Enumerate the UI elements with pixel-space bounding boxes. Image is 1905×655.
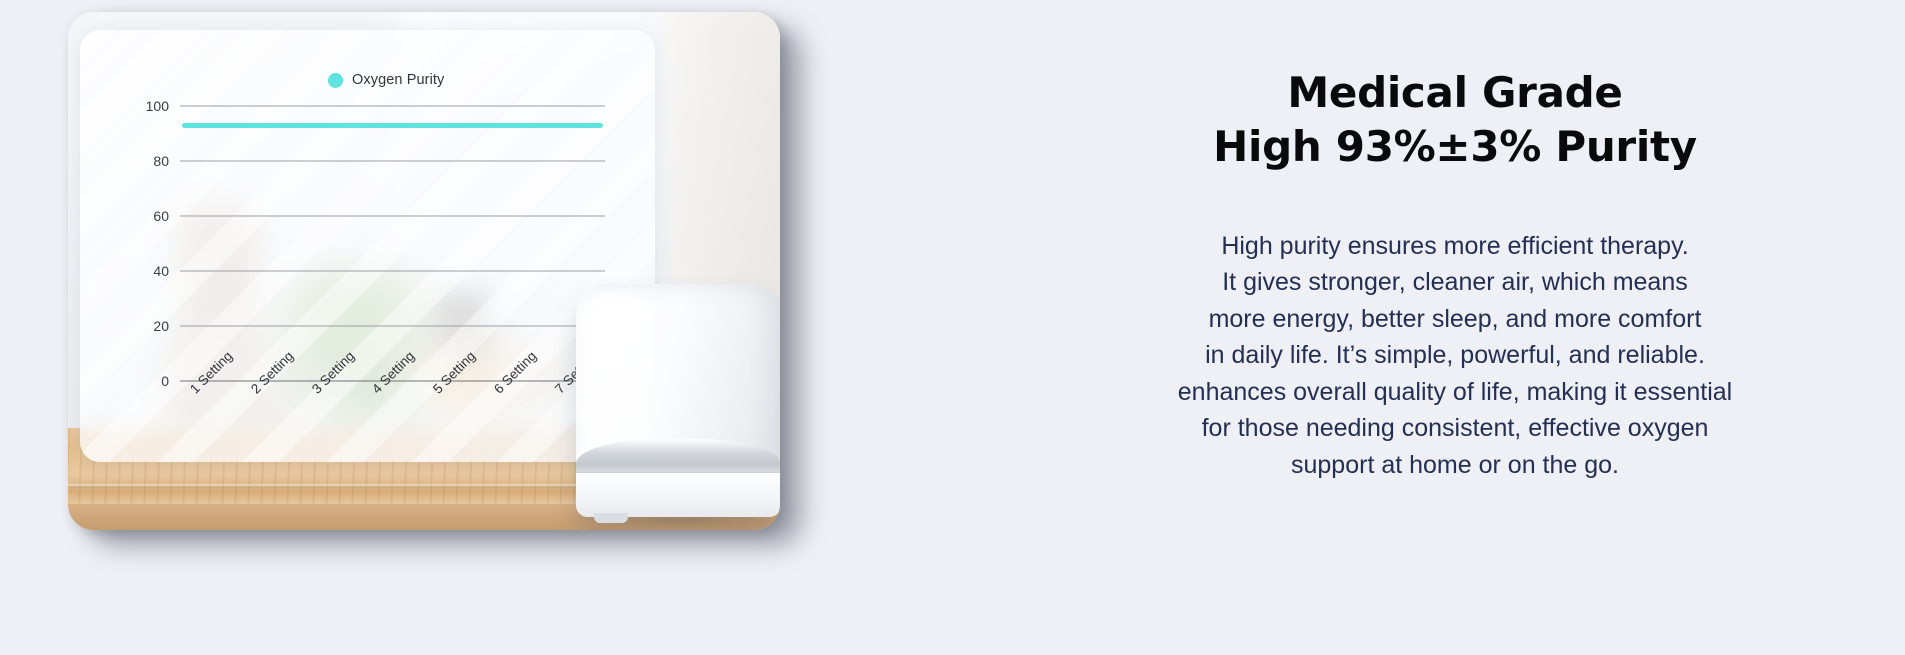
chart-plot-area: 020406080100 [180, 106, 605, 381]
chart-gridline [180, 326, 605, 327]
headline-line-1: Medical Grade [1287, 68, 1622, 117]
page-root: Oxygen Purity 020406080100 1 Setting2 Se… [0, 0, 1905, 655]
legend-label-oxygen-purity: Oxygen Purity [352, 72, 444, 88]
chart-y-tick-label: 0 [161, 373, 180, 389]
chart-gridline [180, 216, 605, 217]
chart-y-tick-label: 40 [153, 263, 180, 279]
body-paragraph-line: enhances overall quality of life, making… [1178, 374, 1732, 411]
headline-line-2: High 93%±3% Purity [1213, 120, 1697, 174]
legend-color-dot-icon [328, 73, 343, 88]
body-paragraph-line: more energy, better sleep, and more comf… [1178, 301, 1732, 338]
chart-y-tick-label: 80 [153, 153, 180, 169]
oxygen-concentrator-device [576, 284, 780, 517]
device-trim-band [576, 439, 780, 475]
device-foot [594, 513, 628, 523]
body-paragraph-line: in daily life. It’s simple, powerful, an… [1178, 337, 1732, 374]
chart-x-axis-labels: 1 Setting2 Setting3 Setting4 Setting5 Se… [180, 386, 605, 462]
marketing-text-panel: Medical Grade High 93%±3% Purity High pu… [1005, 0, 1905, 655]
chart-y-tick-label: 60 [153, 208, 180, 224]
chart-y-tick-label: 20 [153, 318, 180, 334]
device-base [576, 472, 780, 517]
body-paragraph-line: support at home or on the go. [1178, 447, 1732, 484]
chart-gridline [180, 161, 605, 162]
oxygen-purity-chart: Oxygen Purity 020406080100 1 Setting2 Se… [80, 30, 655, 462]
chart-gridline [180, 271, 605, 272]
page-title: Medical Grade High 93%±3% Purity [1213, 66, 1697, 174]
chart-y-tick-label: 100 [146, 98, 180, 114]
chart-gridline [180, 106, 605, 107]
body-paragraph-line: High purity ensures more efficient thera… [1178, 228, 1732, 265]
chart-series-line-oxygen-purity [182, 123, 603, 128]
body-paragraph-line: It gives stronger, cleaner air, which me… [1178, 264, 1732, 301]
body-paragraph-line: for those needing consistent, effective … [1178, 410, 1732, 447]
body-paragraph: High purity ensures more efficient thera… [1178, 228, 1732, 484]
chart-legend: Oxygen Purity [328, 72, 444, 88]
product-chart-card: Oxygen Purity 020406080100 1 Setting2 Se… [68, 12, 780, 530]
